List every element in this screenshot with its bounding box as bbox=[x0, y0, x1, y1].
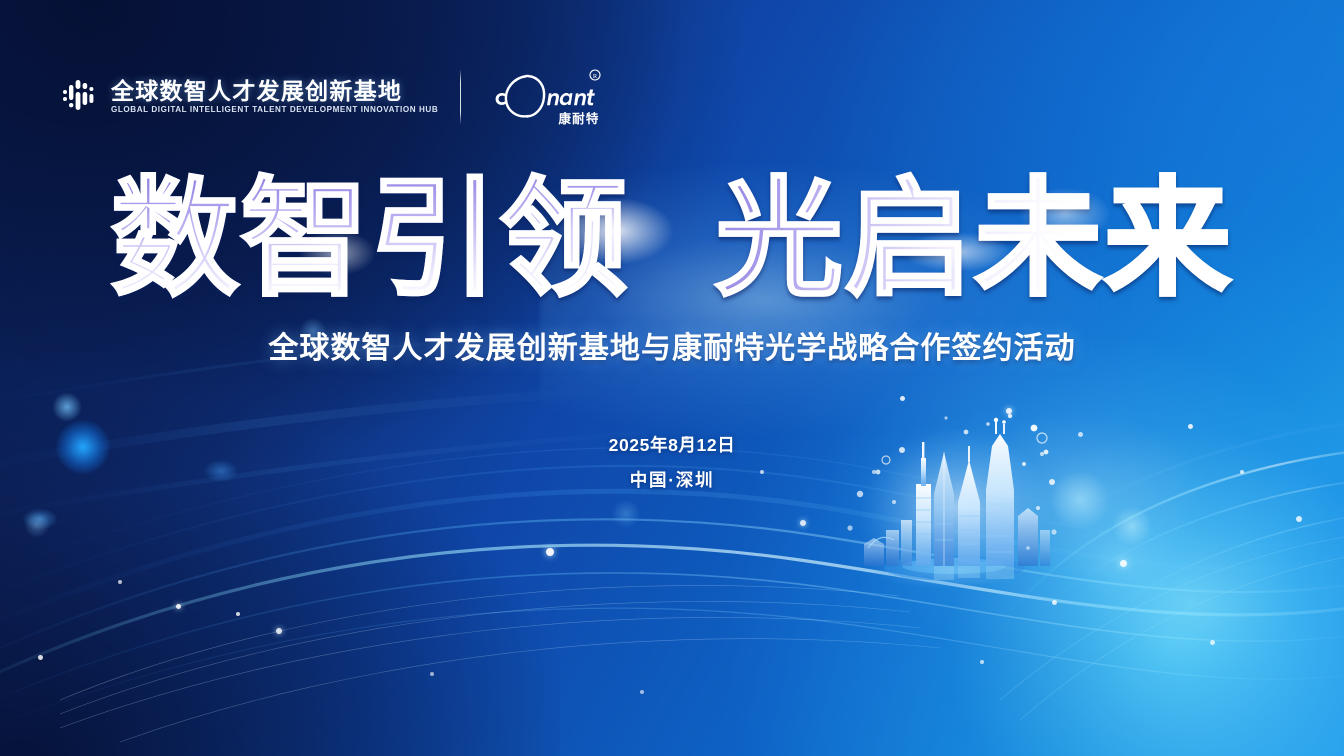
particle-dot bbox=[1210, 640, 1215, 645]
particle-dot bbox=[38, 655, 43, 660]
event-subtitle: 全球数智人才发展创新基地与康耐特光学战略合作签约活动 bbox=[0, 330, 1344, 368]
headline-part-2: 光启未来 bbox=[715, 176, 1233, 304]
event-banner: 全球数智人才发展创新基地 GLOBAL DIGITAL INTELLIGENT … bbox=[0, 0, 1344, 756]
bokeh-orb bbox=[52, 392, 82, 422]
event-location: 中国·深圳 bbox=[0, 467, 1344, 493]
event-date: 2025年8月12日 bbox=[0, 432, 1344, 458]
particle-dot bbox=[1120, 560, 1127, 567]
svg-text:R: R bbox=[593, 73, 598, 80]
particle-dot bbox=[1296, 516, 1302, 522]
particle-dot bbox=[800, 520, 806, 526]
particle-dot bbox=[546, 548, 554, 556]
event-meta: 2025年8月12日 中国·深圳 bbox=[0, 432, 1344, 494]
hub-name-cn: 全球数智人才发展创新基地 bbox=[111, 80, 438, 103]
conant-name-cn: 康耐特 bbox=[559, 111, 600, 126]
particle-dot bbox=[640, 690, 644, 694]
bokeh-orb bbox=[22, 508, 58, 530]
hub-logo[interactable]: 全球数智人才发展创新基地 GLOBAL DIGITAL INTELLIGENT … bbox=[62, 78, 438, 117]
bokeh-orb bbox=[24, 512, 50, 538]
bokeh-orb bbox=[1112, 506, 1152, 546]
city-skyline-illustration bbox=[838, 398, 1068, 598]
particle-dot bbox=[176, 604, 181, 609]
logo-divider bbox=[460, 70, 461, 124]
particle-dot bbox=[430, 672, 434, 676]
dot-matrix-logo-icon bbox=[62, 78, 98, 117]
conant-logo[interactable]: R 康耐特 bbox=[483, 66, 603, 128]
conant-logo-icon: R 康耐特 bbox=[483, 66, 603, 128]
particle-dot bbox=[236, 612, 240, 616]
particle-dot bbox=[980, 660, 984, 664]
hub-name-en: GLOBAL DIGITAL INTELLIGENT TALENT DEVELO… bbox=[111, 106, 438, 114]
main-headline: 数智引领 光启未来 bbox=[0, 176, 1344, 304]
particle-dot bbox=[1188, 424, 1193, 429]
particle-dot bbox=[118, 580, 122, 584]
headline-part-1: 数智引领 bbox=[111, 176, 629, 304]
particle-dot bbox=[276, 628, 282, 634]
brand-header: 全球数智人才发展创新基地 GLOBAL DIGITAL INTELLIGENT … bbox=[62, 66, 603, 128]
bokeh-orb bbox=[612, 500, 640, 528]
particle-dot bbox=[1052, 600, 1057, 605]
